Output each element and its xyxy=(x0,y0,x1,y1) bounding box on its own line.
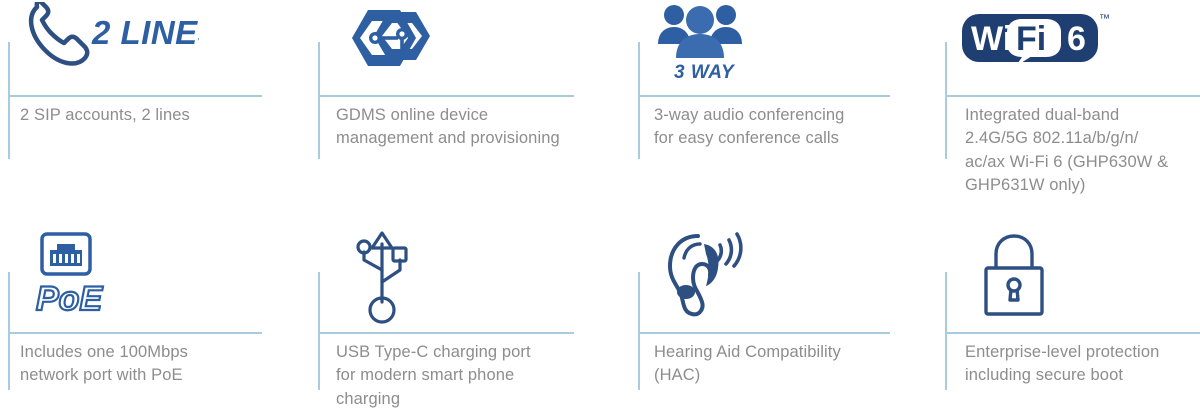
icon-label-two-lines: 2 LINES xyxy=(91,14,199,51)
feature-description: GDMS online device management and provis… xyxy=(336,104,606,151)
feature-description: Includes one 100Mbps network port with P… xyxy=(20,341,282,388)
feature-cell-hac: Hearing Aid Compatibility (HAC) xyxy=(620,206,940,413)
divider-horizontal xyxy=(638,95,890,97)
icon-label-three-way: 3 WAY xyxy=(674,62,736,82)
feature-description: Enterprise-level protection including se… xyxy=(965,341,1200,388)
wifi-logo-tm-text: ™ xyxy=(1099,13,1110,25)
feature-description: USB Type-C charging port for modern smar… xyxy=(336,341,608,411)
divider-horizontal xyxy=(945,332,1200,334)
divider-horizontal xyxy=(638,332,890,334)
feature-description: Hearing Aid Compatibility (HAC) xyxy=(654,341,922,388)
divider-vertical xyxy=(638,272,640,390)
phone-handset-2-lines-icon: 2 LINES xyxy=(24,2,199,88)
divider-vertical xyxy=(945,42,947,159)
three-people-conference-icon: 3 WAY xyxy=(654,2,764,88)
padlock-icon xyxy=(980,232,1050,318)
usb-trident-icon xyxy=(342,230,422,316)
divider-horizontal xyxy=(8,95,262,97)
divider-vertical xyxy=(8,42,10,159)
icon-label-poe: PoE xyxy=(36,280,103,318)
wifi-logo-six-text: 6 xyxy=(1067,20,1086,58)
wifi-logo-fi-text: Fi xyxy=(1016,20,1046,58)
feature-description: 3-way audio conferencing for easy confer… xyxy=(654,104,922,151)
divider-vertical xyxy=(945,272,947,390)
feature-description: Integrated dual-band 2.4G/5G 802.11a/b/g… xyxy=(965,104,1200,198)
divider-horizontal xyxy=(318,95,574,97)
divider-horizontal xyxy=(8,332,262,334)
feature-cell-wifi6: Wi Fi 6 ™ Integrated dual-band 2.4G/5G 8… xyxy=(940,0,1200,206)
feature-cell-two-lines: 2 LINES 2 SIP accounts, 2 lines xyxy=(0,0,300,206)
feature-cell-poe: PoE Includes one 100Mbps network port wi… xyxy=(0,206,300,413)
divider-horizontal xyxy=(945,95,1200,97)
divider-vertical xyxy=(318,272,320,390)
wifi-logo-wi-text: Wi xyxy=(971,20,1012,58)
feature-cell-secure-boot: Enterprise-level protection including se… xyxy=(940,206,1200,413)
feature-cell-three-way: 3 WAY 3-way audio conferencing for easy … xyxy=(620,0,940,206)
feature-description: 2 SIP accounts, 2 lines xyxy=(20,104,275,127)
feature-grid: 2 LINES 2 SIP accounts, 2 lines xyxy=(0,0,1200,413)
divider-horizontal xyxy=(318,332,574,334)
rj45-poe-port-icon: PoE xyxy=(34,232,124,318)
feature-cell-gdms: GDMS online device management and provis… xyxy=(300,0,620,206)
divider-vertical xyxy=(8,272,10,390)
divider-vertical xyxy=(638,42,640,159)
wifi-6-logo-icon: Wi Fi 6 ™ xyxy=(960,6,1115,92)
hearing-aid-ear-icon xyxy=(660,230,750,316)
feature-cell-usb-type-c: USB Type-C charging port for modern smar… xyxy=(300,206,620,413)
gdms-hexagon-icon xyxy=(342,8,442,94)
divider-vertical xyxy=(318,42,320,159)
